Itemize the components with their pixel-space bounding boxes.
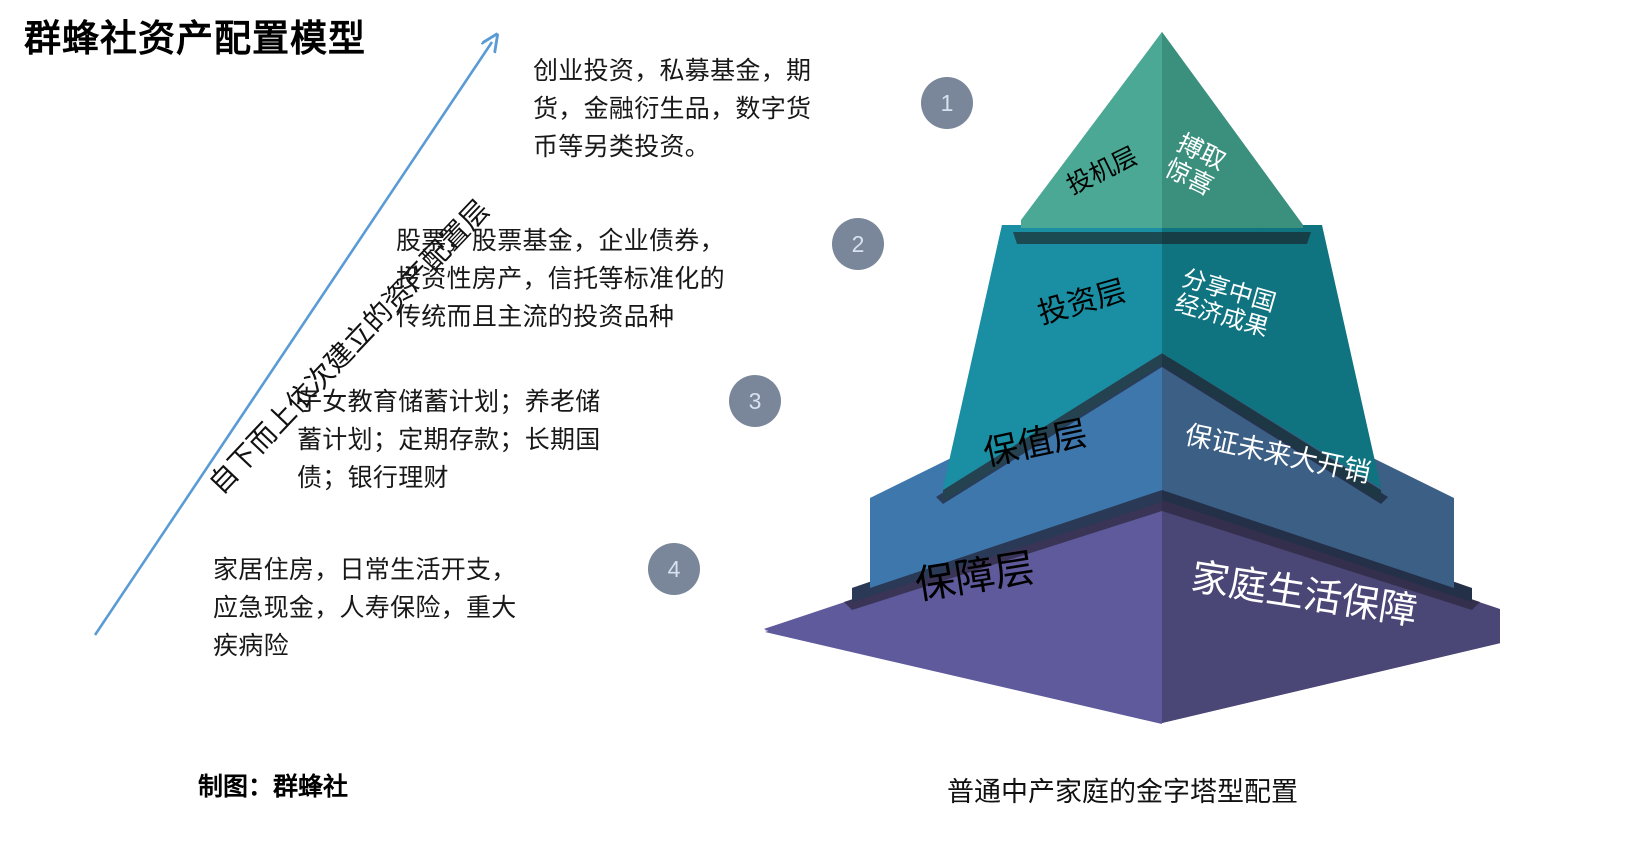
description-block-2: 股票，股票基金，企业债券， 投资性房产，信托等标准化的 传统而且主流的投资品种 [396, 222, 796, 336]
description-block-3: 子女教育储蓄计划；养老储 蓄计划；定期存款；长期国 债；银行理财 [297, 383, 672, 497]
slide-canvas: 群蜂社资产配置模型 自下而上依次建立的资产配置层 创业投资，私募基金，期 货，金… [0, 0, 1643, 863]
pyramid-diagram: 投机层 搏取 惊喜 投资层 分享中国 经济成果 保值层 保证未来大开销 保障层 … [740, 10, 1500, 760]
pyramid-caption: 普通中产家庭的金字塔型配置 [947, 770, 1298, 809]
description-block-4: 家居住房，日常生活开支， 应急现金，人寿保险，重大 疾病险 [213, 551, 588, 665]
step-badge-4: 4 [648, 543, 700, 595]
credit-label: 制图：群蜂社 [198, 767, 348, 803]
